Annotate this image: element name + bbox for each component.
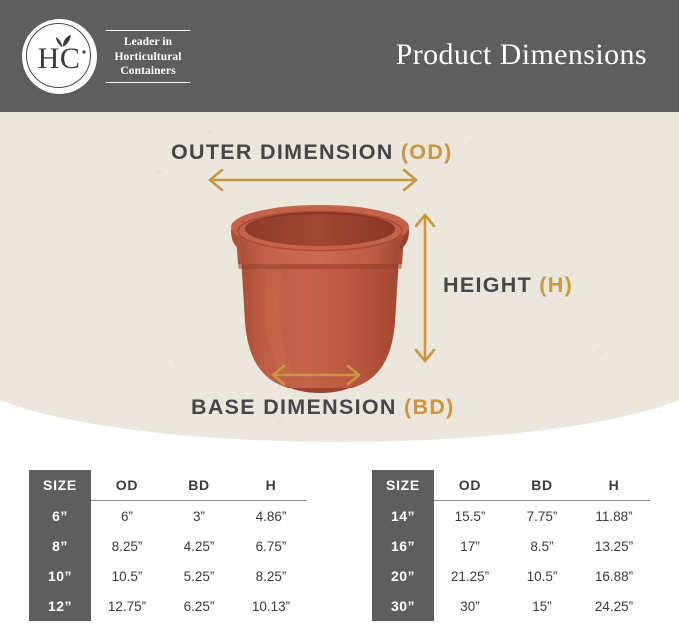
od-arrow (210, 170, 416, 190)
height-abbr: (H) (539, 273, 573, 297)
large-sizes-table: SIZE OD BD H 14” 15.5” 7.75” 11.88” 16” … (372, 470, 650, 621)
column-header-od: OD (91, 470, 163, 501)
cell-od: 6” (91, 501, 163, 532)
cell-bd: 15” (506, 591, 578, 621)
svg-text:HC: HC (38, 42, 81, 75)
base-dimension-abbr: (BD) (404, 395, 455, 419)
small-sizes-table: SIZE OD BD H 6” 6” 3” 4.86” 8” 8.25” 4.2… (29, 470, 307, 621)
column-header-size: SIZE (29, 470, 91, 501)
cell-h: 6.75” (235, 531, 307, 561)
cell-od: 21.25” (434, 561, 506, 591)
outer-dimension-text: OUTER DIMENSION (171, 140, 401, 164)
brand-tagline: Leader in Horticultural Containers (106, 30, 190, 83)
cell-h: 8.25” (235, 561, 307, 591)
cell-bd: 3” (163, 501, 235, 532)
outer-dimension-label: OUTER DIMENSION (OD) (171, 140, 453, 165)
outer-dimension-abbr: (OD) (401, 140, 453, 164)
base-dimension-label: BASE DIMENSION (BD) (191, 395, 455, 420)
cell-od: 10.5” (91, 561, 163, 591)
cell-h: 11.88” (578, 501, 650, 532)
column-header-h: H (235, 470, 307, 501)
table-header-row: SIZE OD BD H (29, 470, 307, 501)
height-arrow (416, 215, 434, 361)
cell-od: 8.25” (91, 531, 163, 561)
hc-monogram-icon: HC (22, 19, 97, 94)
dimension-tables: SIZE OD BD H 6” 6” 3” 4.86” 8” 8.25” 4.2… (0, 470, 679, 621)
tagline-line-3: Containers (110, 64, 186, 79)
table-row: 8” 8.25” 4.25” 6.75” (29, 531, 307, 561)
cell-od: 15.5” (434, 501, 506, 532)
cell-size: 12” (29, 591, 91, 621)
cell-bd: 10.5” (506, 561, 578, 591)
cell-od: 12.75” (91, 591, 163, 621)
cell-size: 20” (372, 561, 434, 591)
table-row: 10” 10.5” 5.25” 8.25” (29, 561, 307, 591)
table-row: 30” 30” 15” 24.25” (372, 591, 650, 621)
planter-pot-illustration (231, 205, 409, 393)
page-title: Product Dimensions (396, 38, 647, 72)
table-row: 14” 15.5” 7.75” 11.88” (372, 501, 650, 532)
table-row: 12” 12.75” 6.25” 10.13” (29, 591, 307, 621)
cell-bd: 8.5” (506, 531, 578, 561)
cell-size: 14” (372, 501, 434, 532)
cell-h: 24.25” (578, 591, 650, 621)
cell-h: 10.13” (235, 591, 307, 621)
cell-size: 6” (29, 501, 91, 532)
cell-bd: 7.75” (506, 501, 578, 532)
table-header-row: SIZE OD BD H (372, 470, 650, 501)
height-label: HEIGHT (H) (443, 273, 573, 298)
cell-h: 16.88” (578, 561, 650, 591)
table-row: 16” 17” 8.5” 13.25” (372, 531, 650, 561)
column-header-bd: BD (163, 470, 235, 501)
cell-size: 8” (29, 531, 91, 561)
column-header-bd: BD (506, 470, 578, 501)
cell-size: 10” (29, 561, 91, 591)
tagline-line-2: Horticultural (110, 50, 186, 65)
brand-logo: HC Leader in Horticultural Containers (22, 19, 190, 94)
cell-bd: 4.25” (163, 531, 235, 561)
cell-h: 13.25” (578, 531, 650, 561)
cell-size: 30” (372, 591, 434, 621)
page-header: HC Leader in Horticultural Containers Pr… (0, 0, 679, 112)
cell-size: 16” (372, 531, 434, 561)
cell-bd: 6.25” (163, 591, 235, 621)
tagline-line-1: Leader in (110, 35, 186, 50)
logo-badge-circle: HC (22, 19, 97, 94)
table-row: 6” 6” 3” 4.86” (29, 501, 307, 532)
cell-od: 30” (434, 591, 506, 621)
cell-bd: 5.25” (163, 561, 235, 591)
column-header-size: SIZE (372, 470, 434, 501)
column-header-h: H (578, 470, 650, 501)
height-text: HEIGHT (443, 273, 539, 297)
cell-h: 4.86” (235, 501, 307, 532)
diagram-panel: OUTER DIMENSION (OD) HEIGHT (H) BASE DIM… (0, 112, 679, 442)
base-dimension-text: BASE DIMENSION (191, 395, 404, 419)
column-header-od: OD (434, 470, 506, 501)
table-row: 20” 21.25” 10.5” 16.88” (372, 561, 650, 591)
cell-od: 17” (434, 531, 506, 561)
